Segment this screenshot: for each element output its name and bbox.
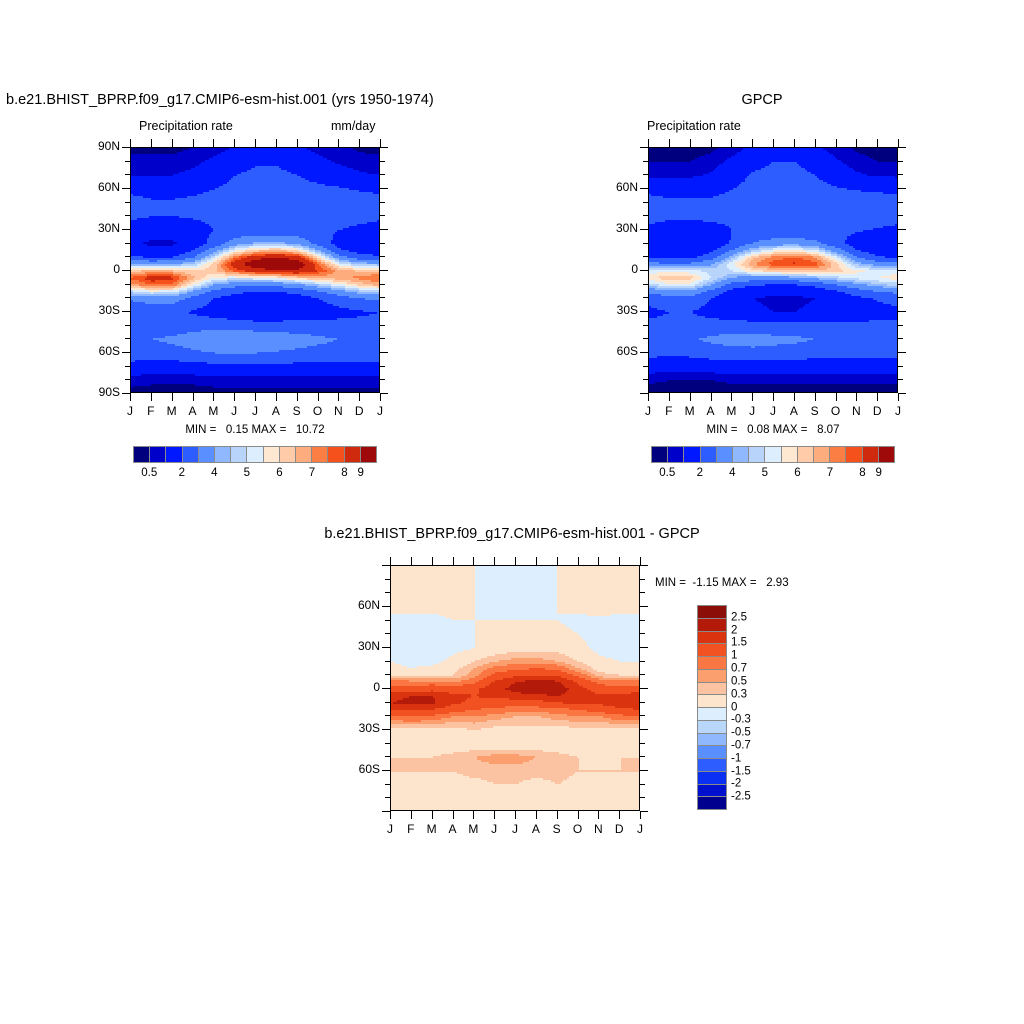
obs-panel-title: GPCP (640, 93, 884, 108)
y-tick (122, 147, 130, 148)
y-tick (898, 311, 906, 312)
y-tick (380, 188, 388, 189)
x-axis-tick-label: J (630, 823, 650, 835)
y-tick (898, 284, 903, 285)
y-tick (898, 188, 906, 189)
y-tick (380, 174, 385, 175)
colorbar-cell (652, 447, 668, 462)
y-tick (382, 770, 390, 771)
y-tick (640, 147, 648, 148)
x-tick (619, 557, 620, 565)
x-tick (151, 139, 152, 147)
x-axis-tick-label: A (183, 405, 203, 417)
x-tick (297, 139, 298, 147)
x-tick (318, 393, 319, 401)
x-tick (380, 139, 381, 147)
y-tick (898, 215, 903, 216)
x-axis-tick-label: A (701, 405, 721, 417)
colorbar-cell (361, 447, 376, 462)
y-tick (640, 352, 648, 353)
colorbar-cell (698, 683, 726, 696)
x-tick (255, 393, 256, 401)
y-tick (640, 270, 648, 271)
colorbar-tick-label: 2 (731, 625, 737, 637)
colorbar-tick-label: 4 (199, 468, 229, 480)
x-axis-tick-label: J (763, 405, 783, 417)
y-tick (380, 270, 388, 271)
y-axis-tick-label: 30S (344, 722, 380, 734)
y-tick (122, 188, 130, 189)
colorbar-cell (698, 759, 726, 772)
x-tick (794, 139, 795, 147)
y-tick (380, 352, 388, 353)
x-axis-tick-label: D (609, 823, 629, 835)
x-tick (648, 139, 649, 147)
y-tick (898, 366, 903, 367)
y-tick (898, 202, 903, 203)
x-tick (390, 811, 391, 819)
diff-colorbar-labels: 2.521.510.70.50.30-0.3-0.5-0.7-1-1.5-2-2… (731, 605, 771, 810)
colorbar-cell (830, 447, 846, 462)
x-tick (234, 393, 235, 401)
x-axis-tick-label: F (659, 405, 679, 417)
colorbar-cell (684, 447, 700, 462)
y-tick (640, 647, 648, 648)
x-tick (255, 139, 256, 147)
x-axis-tick-label: O (826, 405, 846, 417)
y-tick (898, 270, 906, 271)
model-colorbar[interactable] (133, 446, 377, 463)
x-tick (711, 139, 712, 147)
x-tick (536, 557, 537, 565)
y-tick (898, 161, 903, 162)
y-tick (898, 338, 903, 339)
colorbar-cell (698, 606, 726, 619)
x-axis-tick-label: J (370, 405, 390, 417)
colorbar-tick-label: -2.5 (731, 791, 751, 803)
colorbar-cell (328, 447, 344, 462)
colorbar-cell (668, 447, 684, 462)
x-axis-tick-label: J (245, 405, 265, 417)
x-axis-tick-label: J (224, 405, 244, 417)
colorbar-cell (312, 447, 328, 462)
y-tick (380, 338, 385, 339)
y-tick (898, 393, 906, 394)
x-axis-tick-label: M (162, 405, 182, 417)
x-tick (297, 393, 298, 401)
x-tick (557, 557, 558, 565)
y-tick (640, 633, 645, 634)
y-tick (898, 297, 903, 298)
colorbar-cell (798, 447, 814, 462)
x-tick (773, 139, 774, 147)
y-tick (382, 729, 390, 730)
y-axis-tick-label: 90S (84, 386, 120, 398)
x-tick (856, 139, 857, 147)
x-tick (473, 557, 474, 565)
x-tick (380, 393, 381, 401)
model-units-label: mm/day (331, 120, 375, 133)
x-tick (338, 393, 339, 401)
y-axis-tick-label: 30N (84, 222, 120, 234)
colorbar-cell (698, 797, 726, 809)
y-tick (122, 311, 130, 312)
y-tick (640, 756, 645, 757)
x-tick (898, 393, 899, 401)
x-tick (172, 139, 173, 147)
y-tick (380, 379, 385, 380)
x-tick (130, 139, 131, 147)
y-tick (380, 202, 385, 203)
x-tick (648, 393, 649, 401)
colorbar-cell (698, 657, 726, 670)
y-axis-tick-label: 0 (84, 263, 120, 275)
x-tick (815, 139, 816, 147)
obs-minmax-text: MIN = 0.08 MAX = 8.07 (648, 425, 898, 437)
y-tick (640, 688, 648, 689)
colorbar-cell (698, 746, 726, 759)
colorbar-cell (231, 447, 247, 462)
y-tick (380, 147, 388, 148)
x-tick (752, 139, 753, 147)
x-tick (390, 557, 391, 565)
x-tick (836, 393, 837, 401)
colorbar-cell (215, 447, 231, 462)
colorbar-tick-label: -0.7 (731, 740, 751, 752)
colorbar-cell (264, 447, 280, 462)
y-tick (640, 743, 645, 744)
colorbar-tick-label: 5 (232, 468, 262, 480)
y-tick (380, 161, 385, 162)
colorbar-cell (765, 447, 781, 462)
diff-contour-field (391, 566, 640, 811)
y-tick (640, 702, 645, 703)
colorbar-cell (296, 447, 312, 462)
y-tick (640, 770, 648, 771)
colorbar-cell (701, 447, 717, 462)
x-tick (515, 557, 516, 565)
colorbar-cell (698, 708, 726, 721)
y-tick (898, 243, 903, 244)
x-tick (276, 139, 277, 147)
colorbar-cell (879, 447, 894, 462)
colorbar-cell (698, 772, 726, 785)
colorbar-tick-label: 9 (864, 468, 894, 480)
x-tick (359, 139, 360, 147)
obs-colorbar-labels: 0.52456789 (651, 468, 895, 484)
diff-panel-title: b.e21.BHIST_BPRP.f09_g17.CMIP6-esm-hist.… (274, 527, 750, 542)
colorbar-tick-label: 2 (167, 468, 197, 480)
y-tick (640, 579, 645, 580)
y-tick (122, 229, 130, 230)
colorbar-tick-label: 2 (685, 468, 715, 480)
y-axis-tick-label: 60S (602, 345, 638, 357)
diff-minmax-text: MIN = -1.15 MAX = 2.93 (655, 578, 789, 590)
y-tick (898, 147, 906, 148)
x-tick (213, 139, 214, 147)
y-tick (640, 565, 648, 566)
colorbar-cell (733, 447, 749, 462)
x-tick (856, 393, 857, 401)
colorbar-cell (782, 447, 798, 462)
x-tick (193, 139, 194, 147)
colorbar-cell (150, 447, 166, 462)
model-contour-field (131, 148, 380, 393)
y-axis-tick-label: 0 (344, 681, 380, 693)
colorbar-tick-label: 7 (297, 468, 327, 480)
colorbar-cell (749, 447, 765, 462)
x-tick (359, 393, 360, 401)
x-tick (578, 557, 579, 565)
y-tick (382, 647, 390, 648)
x-tick (411, 811, 412, 819)
y-tick (640, 674, 645, 675)
x-tick (598, 811, 599, 819)
y-tick (898, 174, 903, 175)
x-axis-tick-label: S (805, 405, 825, 417)
x-tick (432, 811, 433, 819)
y-tick (382, 688, 390, 689)
model-variable-label: Precipitation rate (139, 120, 233, 133)
colorbar-tick-label: 1.5 (731, 638, 747, 650)
colorbar-tick-label: 2.5 (731, 612, 747, 624)
x-axis-tick-label: D (867, 405, 887, 417)
obs-colorbar[interactable] (651, 446, 895, 463)
x-tick (234, 139, 235, 147)
x-tick (898, 139, 899, 147)
colorbar-cell (698, 695, 726, 708)
x-axis-tick-label: M (422, 823, 442, 835)
x-tick (877, 393, 878, 401)
x-tick (494, 811, 495, 819)
colorbar-cell (863, 447, 879, 462)
colorbar-cell (183, 447, 199, 462)
x-tick (130, 393, 131, 401)
x-tick (669, 139, 670, 147)
x-axis-tick-label: J (484, 823, 504, 835)
x-tick (815, 393, 816, 401)
x-axis-tick-label: S (287, 405, 307, 417)
x-axis-tick-label: F (401, 823, 421, 835)
x-axis-tick-label: M (680, 405, 700, 417)
y-tick (380, 393, 388, 394)
colorbar-cell (698, 721, 726, 734)
colorbar-cell (134, 447, 150, 462)
x-tick (515, 811, 516, 819)
y-tick (640, 188, 648, 189)
x-axis-tick-label: J (120, 405, 140, 417)
colorbar-cell (698, 670, 726, 683)
x-axis-tick-label: A (443, 823, 463, 835)
x-axis-tick-label: J (742, 405, 762, 417)
colorbar-cell (345, 447, 361, 462)
diff-colorbar[interactable] (697, 605, 727, 810)
y-tick (380, 366, 385, 367)
colorbar-cell (814, 447, 830, 462)
x-axis-tick-label: M (203, 405, 223, 417)
x-axis-tick-label: M (463, 823, 483, 835)
colorbar-tick-label: 0 (731, 702, 737, 714)
colorbar-tick-label: 7 (815, 468, 845, 480)
x-tick (473, 811, 474, 819)
x-tick (151, 393, 152, 401)
y-tick (380, 256, 385, 257)
colorbar-tick-label: -0.5 (731, 727, 751, 739)
y-tick (640, 784, 645, 785)
y-tick (640, 661, 645, 662)
y-axis-tick-label: 60S (84, 345, 120, 357)
x-tick (432, 557, 433, 565)
x-tick (578, 811, 579, 819)
x-tick (690, 139, 691, 147)
y-tick (122, 352, 130, 353)
x-tick (453, 557, 454, 565)
x-tick (213, 393, 214, 401)
y-axis-tick-label: 30N (344, 640, 380, 652)
y-axis-tick-label: 60N (344, 599, 380, 611)
x-tick (536, 811, 537, 819)
colorbar-cell (698, 785, 726, 798)
x-axis-tick-label: J (888, 405, 908, 417)
y-tick (898, 379, 903, 380)
y-tick (640, 797, 645, 798)
x-tick (276, 393, 277, 401)
y-axis-tick-label: 0 (602, 263, 638, 275)
x-tick (877, 139, 878, 147)
x-tick (193, 393, 194, 401)
colorbar-tick-label: -2 (731, 779, 741, 791)
y-tick (898, 325, 903, 326)
x-tick (731, 393, 732, 401)
y-axis-tick-label: 30S (84, 304, 120, 316)
y-tick (380, 243, 385, 244)
y-tick (122, 393, 130, 394)
y-tick (898, 229, 906, 230)
colorbar-cell (247, 447, 263, 462)
y-axis-tick-label: 90N (84, 140, 120, 152)
x-axis-tick-label: S (547, 823, 567, 835)
x-tick (598, 557, 599, 565)
x-axis-tick-label: J (638, 405, 658, 417)
x-tick (172, 393, 173, 401)
obs-plot-area[interactable] (648, 147, 898, 393)
colorbar-cell (698, 632, 726, 645)
x-axis-tick-label: A (266, 405, 286, 417)
y-tick (380, 311, 388, 312)
y-tick (380, 297, 385, 298)
x-tick (494, 557, 495, 565)
x-tick (619, 811, 620, 819)
x-tick (731, 139, 732, 147)
x-axis-tick-label: N (328, 405, 348, 417)
y-tick (640, 229, 648, 230)
x-axis-tick-label: D (349, 405, 369, 417)
colorbar-tick-label: 0.5 (134, 468, 164, 480)
x-axis-tick-label: N (846, 405, 866, 417)
colorbar-tick-label: 0.5 (652, 468, 682, 480)
x-axis-tick-label: N (588, 823, 608, 835)
y-tick (640, 729, 648, 730)
colorbar-tick-label: 6 (264, 468, 294, 480)
x-tick (794, 393, 795, 401)
y-tick (898, 256, 903, 257)
colorbar-cell (698, 644, 726, 657)
colorbar-tick-label: 6 (782, 468, 812, 480)
y-axis-tick-label: 60N (602, 181, 638, 193)
model-minmax-text: MIN = 0.15 MAX = 10.72 (130, 425, 380, 437)
x-tick (836, 139, 837, 147)
x-tick (411, 557, 412, 565)
x-tick (453, 811, 454, 819)
y-axis-tick-label: 30S (602, 304, 638, 316)
x-tick (752, 393, 753, 401)
x-axis-tick-label: J (380, 823, 400, 835)
colorbar-tick-label: 1 (731, 651, 737, 663)
colorbar-tick-label: -1 (731, 753, 741, 765)
x-tick (773, 393, 774, 401)
x-tick (640, 557, 641, 565)
y-tick (640, 811, 648, 812)
y-axis-tick-label: 60S (344, 763, 380, 775)
y-tick (380, 229, 388, 230)
colorbar-cell (166, 447, 182, 462)
x-axis-tick-label: A (526, 823, 546, 835)
y-tick (898, 352, 906, 353)
y-axis-tick-label: 60N (84, 181, 120, 193)
y-tick (640, 715, 645, 716)
x-axis-tick-label: O (568, 823, 588, 835)
x-tick (338, 139, 339, 147)
y-tick (382, 606, 390, 607)
x-tick (711, 393, 712, 401)
colorbar-tick-label: 0.3 (731, 689, 747, 701)
colorbar-tick-label: 0.5 (731, 676, 747, 688)
x-tick (690, 393, 691, 401)
model-colorbar-labels: 0.52456789 (133, 468, 377, 484)
y-tick (380, 284, 385, 285)
y-tick (380, 215, 385, 216)
colorbar-tick-label: 4 (717, 468, 747, 480)
colorbar-cell (199, 447, 215, 462)
y-tick (640, 606, 648, 607)
y-tick (122, 270, 130, 271)
x-axis-tick-label: M (721, 405, 741, 417)
x-tick (318, 139, 319, 147)
x-tick (640, 811, 641, 819)
x-axis-tick-label: J (505, 823, 525, 835)
obs-contour-field (649, 148, 898, 393)
colorbar-cell (717, 447, 733, 462)
diff-plot-area[interactable] (390, 565, 640, 811)
x-tick (557, 811, 558, 819)
y-tick (382, 565, 390, 566)
model-plot-area[interactable] (130, 147, 380, 393)
colorbar-tick-label: -1.5 (731, 766, 751, 778)
obs-variable-label: Precipitation rate (647, 120, 741, 133)
y-tick (640, 393, 648, 394)
colorbar-tick-label: 9 (346, 468, 376, 480)
colorbar-cell (280, 447, 296, 462)
y-tick (382, 811, 390, 812)
model-panel-title: b.e21.BHIST_BPRP.f09_g17.CMIP6-esm-hist.… (6, 93, 434, 108)
y-tick (640, 592, 645, 593)
x-axis-tick-label: A (784, 405, 804, 417)
colorbar-tick-label: 5 (750, 468, 780, 480)
x-tick (669, 393, 670, 401)
colorbar-cell (698, 734, 726, 747)
y-tick (640, 620, 645, 621)
colorbar-cell (846, 447, 862, 462)
